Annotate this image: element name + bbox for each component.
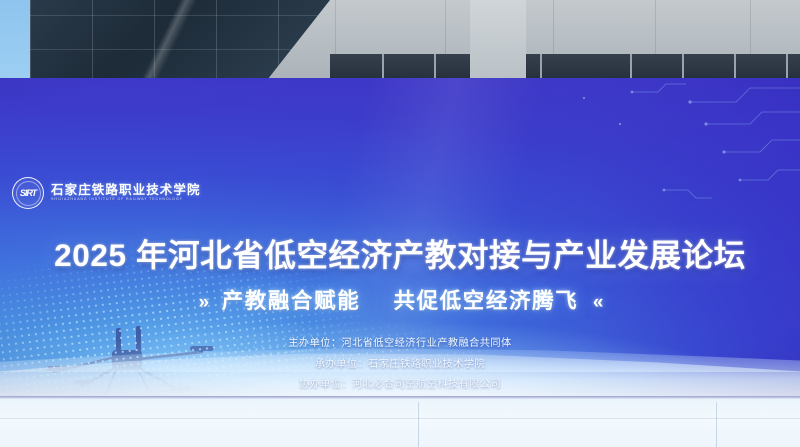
subtitle-text-b: 共促低空经济腾飞 [393,289,578,313]
floor-foreground [0,396,800,447]
organizer-list: 主办单位：河北省低空经济行业产教融合共同体 承办单位：石家庄铁路职业技术学院 协… [0,334,800,396]
event-banner: SIRT 石家庄铁路职业技术学院 SHIJIAZHUANG INSTITUTE … [0,78,800,396]
banner-subtitle: ›› 产教融合赋能 共促低空经济腾飞 ‹‹ [0,284,800,315]
chevron-right-decor: ‹‹ [593,292,602,313]
organizer-line: 协办单位：河北必合司空航空科技有限公司 [0,375,800,396]
logo-name-en: SHIJIAZHUANG INSTITUTE OF RAILWAY TECHNO… [51,198,201,202]
banner-title: 2025 年河北省低空经济产教对接与产业发展论坛 [0,230,800,276]
organizer-line: 主办单位：河北省低空经济行业产教融合共同体 [0,334,800,355]
organizer-line: 承办单位：石家庄铁路职业技术学院 [0,355,800,376]
logo-name-cn: 石家庄铁路职业技术学院 [51,184,201,197]
facade-column [470,0,526,84]
university-logo: SIRT 石家庄铁路职业技术学院 SHIJIAZHUANG INSTITUTE … [12,177,201,209]
subtitle-text-a: 产教融合赋能 [222,289,361,313]
chevron-left-decor: ›› [198,292,207,313]
screenshot-root: SIRT 石家庄铁路职业技术学院 SHIJIAZHUANG INSTITUTE … [0,0,800,447]
university-seal-icon: SIRT [12,177,44,209]
